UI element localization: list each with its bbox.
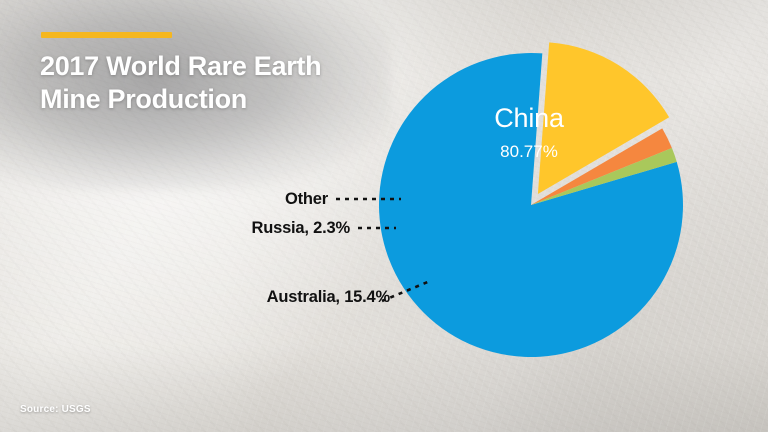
pie-label-china-value: 80.77% bbox=[479, 142, 579, 162]
pie-chart-svg bbox=[0, 0, 768, 432]
pie-label-australia: Australia, 15.4% bbox=[267, 288, 390, 307]
pie-chart bbox=[0, 0, 768, 432]
source-caption: Source: USGS bbox=[20, 404, 91, 415]
pie-label-russia: Russia, 2.3% bbox=[252, 219, 351, 238]
pie-label-china-name: China bbox=[486, 103, 572, 134]
pie-slices bbox=[379, 42, 683, 357]
slide-canvas: 2017 World Rare Earth Mine Production Ot… bbox=[0, 0, 768, 432]
pie-label-other: Other bbox=[285, 190, 328, 209]
